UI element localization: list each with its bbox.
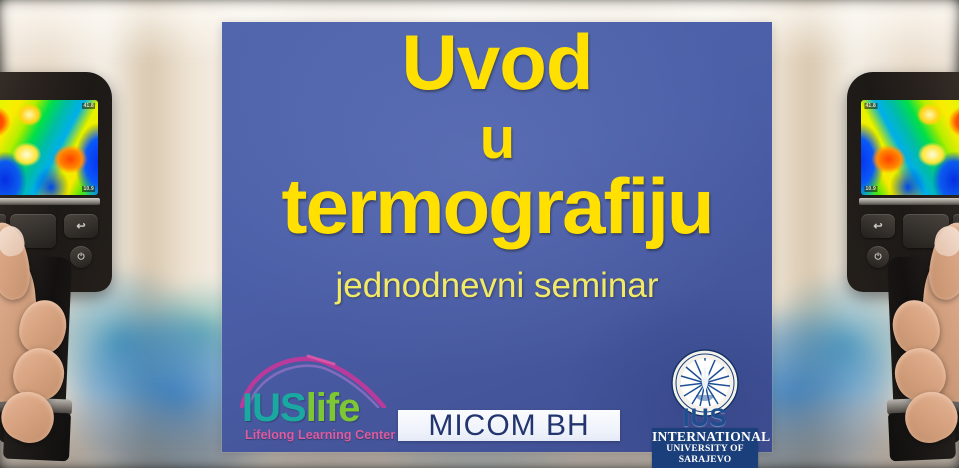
- camera-button-back: ↩: [64, 214, 98, 238]
- camera-thermal-display: 41.8 10.9: [861, 100, 959, 195]
- poster-title-line-2: u: [222, 112, 772, 167]
- power-icon: ⏻: [867, 252, 889, 263]
- thermal-camera-right: 41.8 10.9 ↩ ⏻: [851, 0, 959, 468]
- back-arrow-icon: ↩: [861, 220, 895, 233]
- camera-button-power: ⏻: [70, 246, 92, 268]
- camera-thermal-display: 41.8 10.9: [0, 100, 98, 195]
- ius-name-line-1: INTERNATIONAL: [652, 430, 758, 444]
- poster-subtitle: jednodnevni seminar: [222, 266, 772, 306]
- micom-bh-logo: MICOM BH: [398, 410, 620, 441]
- poster-title-line-3: termografiju: [222, 170, 772, 243]
- thermal-max-temp-label: 41.8: [82, 103, 95, 109]
- thermal-max-temp-label: 41.8: [864, 103, 877, 109]
- iuslife-word-ius: IUS: [242, 386, 306, 430]
- poster-image: 41.8 10.9 ↩ ⏻ 41.8 10.9: [0, 0, 959, 468]
- poster-title-line-1: Uvod: [222, 26, 772, 99]
- iuslife-word-life: life: [306, 386, 360, 430]
- micom-bh-wordmark: MICOM BH: [428, 409, 589, 443]
- camera-button-power: ⏻: [867, 246, 889, 268]
- power-icon: ⏻: [70, 252, 92, 263]
- ius-name-line-2: UNIVERSITY OF SARAJEVO: [652, 444, 758, 466]
- iuslife-wordmark: IUSlife: [242, 388, 359, 428]
- ius-university-logo: IUS INTERNATIONAL UNIVERSITY OF SARAJEVO: [652, 348, 758, 452]
- logo-row: IUSlife Lifelong Learning Center MICOM B…: [222, 344, 772, 452]
- thermal-camera-left: 41.8 10.9 ↩ ⏻: [0, 0, 108, 468]
- camera-button-back: ↩: [861, 214, 895, 238]
- thermal-min-temp-label: 10.9: [864, 186, 877, 192]
- thermal-heatmap: [861, 100, 959, 195]
- ius-name-bar: INTERNATIONAL UNIVERSITY OF SARAJEVO: [652, 428, 758, 468]
- thermal-min-temp-label: 10.9: [82, 186, 95, 192]
- poster-panel: Uvod u termografiju jednodnevni seminar …: [222, 22, 772, 452]
- back-arrow-icon: ↩: [64, 220, 98, 233]
- iuslife-logo: IUSlife Lifelong Learning Center: [236, 350, 400, 450]
- camera-bezel-trim: [859, 198, 959, 205]
- camera-bezel-trim: [0, 198, 100, 205]
- iuslife-tagline: Lifelong Learning Center: [245, 428, 395, 442]
- thermal-heatmap: [0, 100, 98, 195]
